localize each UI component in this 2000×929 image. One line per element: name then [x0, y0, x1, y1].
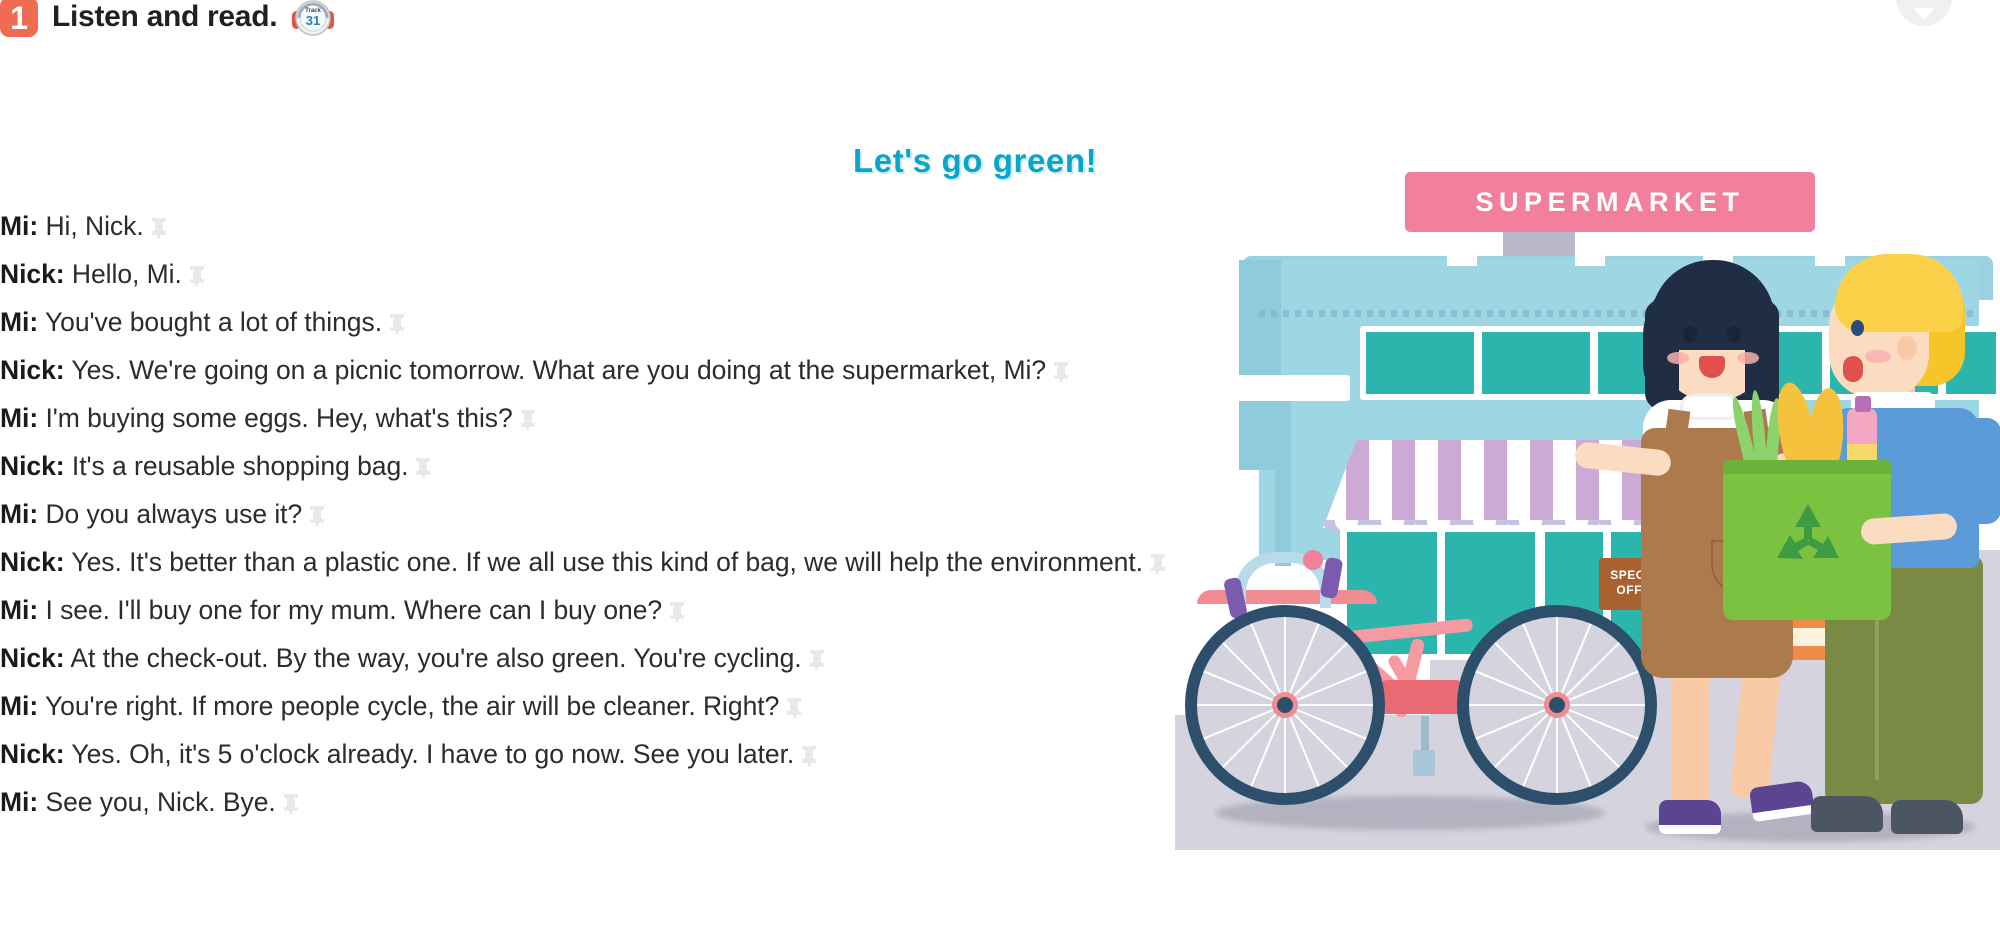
dialogue-text: I'm buying some eggs. Hey, what's this? [45, 403, 512, 433]
exercise-header: 1 Listen and read. Track 31 [0, 0, 335, 40]
pushpin-icon[interactable] [151, 218, 167, 238]
dialogue-speaker: Nick: [0, 355, 65, 385]
dialogue-speaker: Nick: [0, 259, 65, 289]
boy-mouth [1843, 356, 1863, 382]
dialogue-text: Hello, Mi. [72, 259, 182, 289]
dialogue-text: I see. I'll buy one for my mum. Where ca… [45, 595, 662, 625]
headphones-track-icon[interactable]: Track 31 [291, 0, 335, 37]
dialogue-line: Mi: I'm buying some eggs. Hey, what's th… [0, 394, 1240, 442]
dialogue-line: Mi: Hi, Nick. [0, 202, 1240, 250]
dialogue-line: Mi: You're right. If more people cycle, … [0, 682, 1240, 730]
pushpin-icon[interactable] [1150, 554, 1166, 574]
recycle-symbol-icon [1771, 500, 1845, 570]
boy-shoe [1891, 800, 1963, 834]
dialogue-speaker: Mi: [0, 595, 38, 625]
dialogue-speaker: Mi: [0, 691, 38, 721]
supermarket-sign-text: SUPERMARKET [1405, 172, 1815, 232]
dialogue-speaker: Nick: [0, 739, 65, 769]
pushpin-icon[interactable] [415, 458, 431, 478]
supermarket-illustration: SUPERMARKET SPECIAL OFFER [1175, 160, 2000, 870]
svg-text:31: 31 [306, 13, 320, 28]
dialogue-line: Mi: Do you always use it? [0, 490, 1240, 538]
bike-wheel [1185, 605, 1385, 805]
bike-hub [1272, 692, 1298, 718]
boy-shoe [1811, 796, 1883, 832]
boy-blush [1865, 350, 1891, 363]
girl-shoe [1659, 800, 1721, 834]
pushpin-icon[interactable] [809, 650, 825, 670]
dialogue-text: At the check-out. By the way, you're als… [70, 643, 801, 673]
girl-blush [1667, 352, 1689, 364]
dialogue-text: Yes. We're going on a picnic tomorrow. W… [71, 355, 1046, 385]
girl-leg [1671, 660, 1709, 810]
dialogue-text: Do you always use it? [45, 499, 302, 529]
dialogue-line: Nick: Yes. It's better than a plastic on… [0, 538, 1240, 586]
window-pane [1482, 332, 1590, 394]
bike-spoke [1556, 705, 1558, 793]
bike-bell [1303, 550, 1323, 570]
bike-spoke [1285, 704, 1373, 706]
building-ledge [1235, 375, 1350, 401]
pushpin-icon[interactable] [283, 794, 299, 814]
bike-spoke [1557, 704, 1645, 706]
window-pane [1366, 332, 1474, 394]
boy-ear [1897, 336, 1917, 360]
pushpin-icon[interactable] [189, 266, 205, 286]
pushpin-icon[interactable] [389, 314, 405, 334]
dialogue-line: Mi: I see. I'll buy one for my mum. Wher… [0, 586, 1240, 634]
dialogue-line: Mi: You've bought a lot of things. [0, 298, 1240, 346]
bag-bottle-cap [1855, 396, 1871, 412]
dialogue-text: Yes. Oh, it's 5 o'clock already. I have … [71, 739, 794, 769]
exercise-number-badge: 1 [0, 0, 38, 37]
bike-pedal [1413, 750, 1435, 776]
dialogue-speaker: Nick: [0, 643, 65, 673]
reusable-shopping-bag-top [1723, 460, 1891, 474]
dialogue-text: See you, Nick. Bye. [45, 787, 275, 817]
dialogue-speaker: Nick: [0, 451, 65, 481]
pushpin-icon[interactable] [786, 698, 802, 718]
chevron-down-badge-icon[interactable] [1896, 0, 1952, 26]
dialogue-text: Hi, Nick. [45, 211, 143, 241]
sign-leg [1575, 228, 1605, 266]
dialogue-line: Nick: Yes. We're going on a picnic tomor… [0, 346, 1240, 394]
dialogue-line: Nick: At the check-out. By the way, you'… [0, 634, 1240, 682]
sign-leg [1447, 228, 1477, 266]
pushpin-icon[interactable] [669, 602, 685, 622]
chevron-down-icon [1913, 8, 1935, 20]
boy-sleeve [1953, 418, 2000, 524]
supermarket-sign: SUPERMARKET [1405, 172, 1815, 232]
bike-wheel [1457, 605, 1657, 805]
girl-eye [1683, 326, 1697, 343]
girl-blush [1737, 352, 1759, 364]
dialogue-list: Mi: Hi, Nick.Nick: Hello, Mi.Mi: You've … [0, 202, 1240, 826]
dialogue-speaker: Mi: [0, 403, 38, 433]
dialogue-line: Nick: Yes. Oh, it's 5 o'clock already. I… [0, 730, 1240, 778]
page-title: Listen and read. [52, 0, 277, 34]
dialogue-line: Mi: See you, Nick. Bye. [0, 778, 1240, 826]
bike-pedal-arm [1421, 716, 1429, 752]
dialogue-speaker: Mi: [0, 499, 38, 529]
pushpin-icon[interactable] [309, 506, 325, 526]
dialogue-speaker: Nick: [0, 547, 65, 577]
girl-eye [1727, 326, 1741, 343]
dialogue-speaker: Mi: [0, 307, 38, 337]
lesson-title: Let's go green! [853, 142, 1097, 180]
dialogue-text: Yes. It's better than a plastic one. If … [71, 547, 1143, 577]
pushpin-icon[interactable] [801, 746, 817, 766]
dialogue-text: You've bought a lot of things. [45, 307, 382, 337]
dialogue-speaker: Mi: [0, 787, 38, 817]
boy-eye [1851, 320, 1864, 336]
pushpin-icon[interactable] [520, 410, 536, 430]
pushpin-icon[interactable] [1053, 362, 1069, 382]
dialogue-text: It's a reusable shopping bag. [72, 451, 409, 481]
dialogue-line: Nick: Hello, Mi. [0, 250, 1240, 298]
bike-hub [1544, 692, 1570, 718]
dialogue-text: You're right. If more people cycle, the … [45, 691, 779, 721]
sign-leg [1815, 228, 1845, 266]
bike-spoke [1284, 705, 1286, 793]
dialogue-speaker: Mi: [0, 211, 38, 241]
building-column [1275, 396, 1291, 566]
dialogue-line: Nick: It's a reusable shopping bag. [0, 442, 1240, 490]
